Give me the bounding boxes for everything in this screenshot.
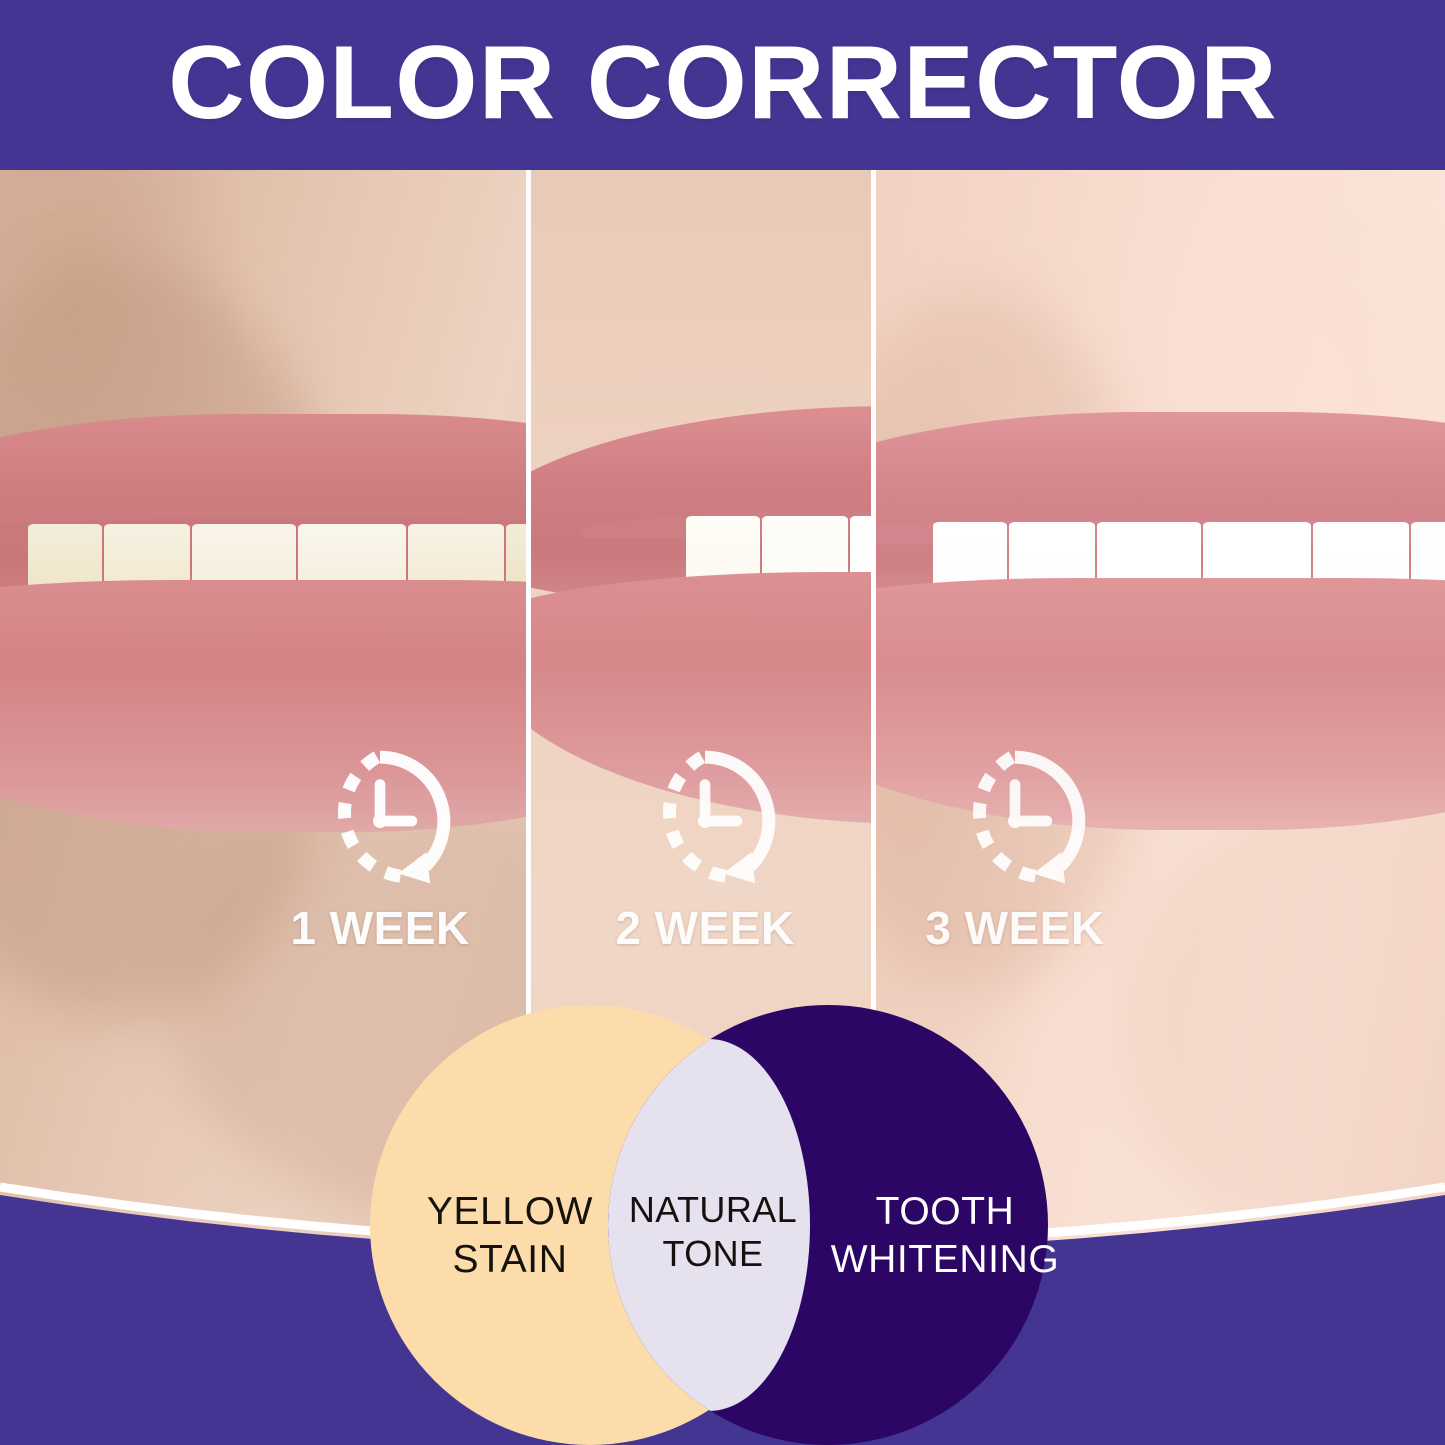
clock-arrow-icon xyxy=(629,745,781,897)
week-label: 3 WEEK xyxy=(925,905,1104,951)
week-label: 2 WEEK xyxy=(615,905,794,951)
week-label: 1 WEEK xyxy=(290,905,469,951)
product-infographic: COLOR CORRECTOR xyxy=(0,0,1445,1445)
clock-arrow-icon xyxy=(939,745,1091,897)
timeline-step-week2: 2 WEEK xyxy=(575,745,835,951)
timeline-step-week3: 3 WEEK xyxy=(885,745,1145,951)
venn-label-tooth-whitening: TOOTHWHITENING xyxy=(820,1188,1070,1283)
venn-label-yellow-stain: YELLOWSTAIN xyxy=(398,1188,622,1283)
timeline-step-week1: 1 WEEK xyxy=(250,745,510,951)
clock-arrow-icon xyxy=(304,745,456,897)
venn-labels: YELLOWSTAIN NATURALTONE TOOTHWHITENING xyxy=(0,0,1445,440)
venn-label-natural-tone: NATURALTONE xyxy=(622,1188,804,1276)
